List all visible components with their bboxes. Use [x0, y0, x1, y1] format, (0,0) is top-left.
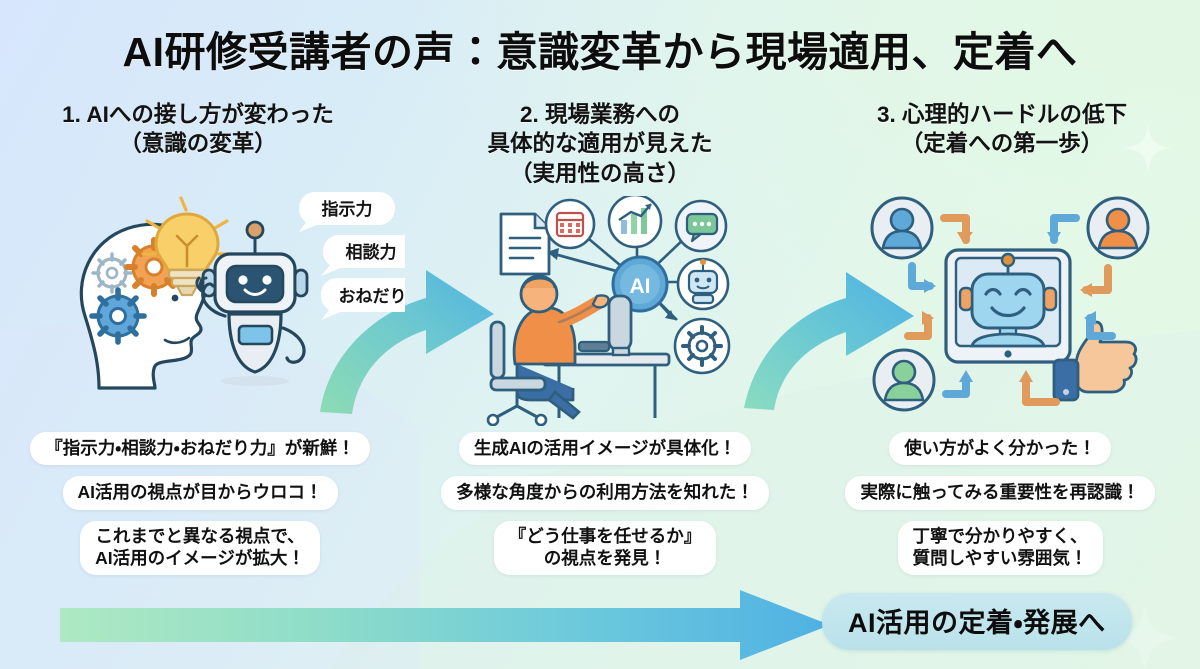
quote-pill: AI活用の視点が目からウロコ！ — [63, 476, 338, 509]
progress-arrow — [60, 590, 830, 660]
quotes-column-1: 『指示力・相談力・おねだり力』が新鮮！ AI活用の視点が目からウロコ！ これまで… — [0, 432, 400, 586]
column-1-heading: 1. AIへの接し方が変わった （意識の変革） — [8, 100, 388, 159]
speech-bubble-1: 指示力 — [299, 192, 395, 232]
quotes-column-2: 生成AIの活用イメージが具体化！ 多様な角度からの利用方法を知れた！ 『どう仕事… — [405, 432, 805, 586]
quote-pill: これまでと異なる視点で、 AI活用のイメージが拡大！ — [80, 521, 320, 575]
quotes-column-3: 使い方がよく分かった！ 実際に触ってみる重要性を再認識！ 丁寧で分かりやすく、 … — [800, 432, 1200, 586]
speech-bubble-3: おねだり力 — [321, 278, 405, 320]
user-avatar-orange — [1088, 198, 1148, 258]
quote-pill: 生成AIの活用イメージが具体化！ — [459, 432, 751, 465]
tablet-robot-icon — [946, 250, 1070, 362]
speech-bubble-2: 相談力 — [321, 235, 405, 276]
eye-dot — [172, 295, 179, 302]
robot-icon — [678, 259, 728, 309]
illustration-brain-gears-robot: 指示力 相談力 おねだり力 — [55, 188, 405, 398]
quote-pill: 実際に触ってみる重要性を再認識！ — [845, 476, 1154, 509]
column-2: 2. 現場業務への 具体的な適用が見えた （実用性の高さ） — [410, 100, 790, 188]
ai-hub-label: AI — [630, 275, 651, 298]
chat-icon — [676, 201, 726, 251]
chart-icon — [609, 196, 661, 247]
quote-pill: 丁寧で分かりやすく、 質問しやすい雰囲気！ — [898, 521, 1103, 575]
quote-pill: 『指示力・相談力・おねだり力』が新鮮！ — [30, 432, 369, 465]
illustration-desk-ai-hub: AI — [455, 196, 755, 426]
gear-icon — [675, 319, 729, 373]
column-2-heading-line2: 具体的な適用が見えた — [410, 129, 790, 158]
user-avatar-green — [874, 350, 934, 410]
bubble-label-2: 相談力 — [346, 242, 397, 262]
infographic-canvas: AI研修受講者の声：意識変革から現場適用、定着へ 1. AIへの接し方が変わった… — [0, 0, 1200, 669]
quote-pill: 『どう仕事を任せるか』 の視点を発見！ — [494, 521, 717, 575]
column-1-heading-line1: 1. AIへの接し方が変わった — [8, 100, 388, 129]
column-2-heading-line3: （実用性の高さ） — [410, 159, 790, 188]
user-avatar-blue — [872, 198, 932, 258]
column-3-heading: 3. 心理的ハードルの低下 （定着への第一歩） — [812, 100, 1192, 159]
bubble-label-1: 指示力 — [322, 199, 373, 219]
column-3-heading-line2: （定着への第一歩） — [812, 129, 1192, 158]
column-1: 1. AIへの接し方が変わった （意識の変革） — [8, 100, 388, 159]
quote-pill: 多様な角度からの利用方法を知れた！ — [441, 476, 769, 509]
column-3-heading-line1: 3. 心理的ハードルの低下 — [812, 100, 1192, 129]
column-3: 3. 心理的ハードルの低下 （定着への第一歩） — [812, 100, 1192, 159]
column-2-heading: 2. 現場業務への 具体的な適用が見えた （実用性の高さ） — [410, 100, 790, 188]
column-1-heading-line2: （意識の変革） — [8, 129, 388, 158]
calendar-icon — [546, 200, 594, 248]
document-icon — [501, 214, 549, 274]
outcome-badge: AI活用の定着・発展へ — [822, 593, 1132, 650]
illustration-tablet-robot-users — [860, 188, 1160, 420]
keyboard-icon — [579, 342, 609, 351]
gear-icon-blue — [92, 290, 144, 342]
page-title: AI研修受講者の声：意識変革から現場適用、定着へ — [0, 18, 1200, 78]
column-2-heading-line1: 2. 現場業務への — [410, 100, 790, 129]
bubble-label-3: おねだり力 — [339, 286, 406, 306]
quote-pill: 使い方がよく分かった！ — [889, 432, 1111, 465]
